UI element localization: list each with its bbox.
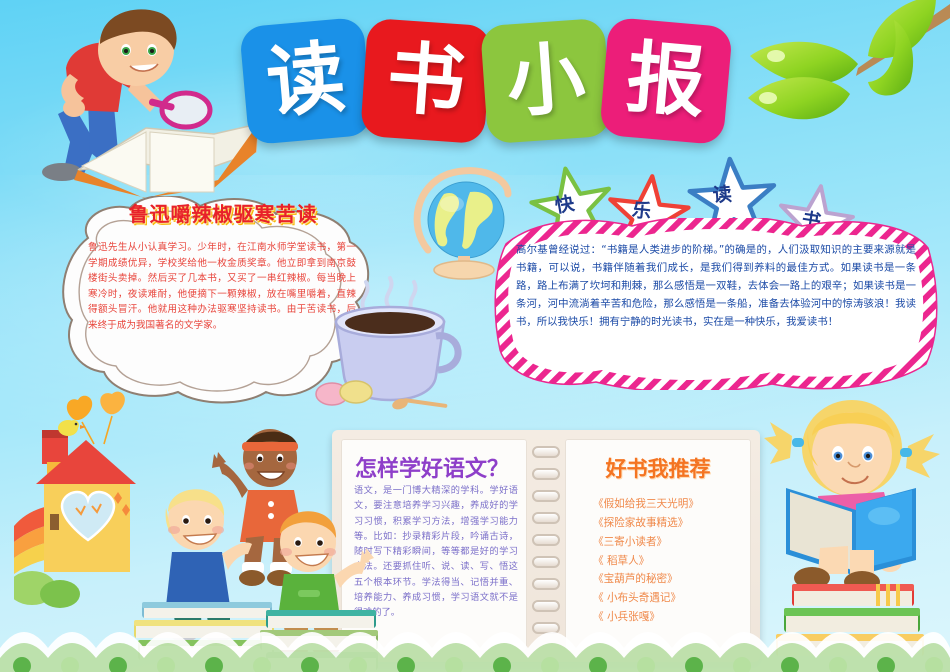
title-char-4: 报 bbox=[624, 39, 709, 124]
list-item: 《宝葫芦的秘密》 bbox=[593, 570, 699, 589]
right-article-body: 高尔基曾经说过：“书籍是人类进步的阶梯。”的确是的，人们汲取知识的主要来源就是书… bbox=[516, 242, 916, 331]
title-tile-1: 读 bbox=[239, 17, 373, 145]
title-tile-4: 报 bbox=[599, 17, 733, 145]
scallop-shape bbox=[0, 618, 950, 672]
coffee-cup-icon bbox=[310, 270, 495, 420]
notebook-left-body: 语文，是一门博大精深的学科。学好语文，要注意培养学习兴趣，养成好的学习习惯，积累… bbox=[354, 483, 518, 620]
title-char-2: 书 bbox=[384, 39, 467, 122]
title-char-1: 读 bbox=[264, 39, 349, 124]
notebook-right-title: 好书我推荐 bbox=[565, 453, 751, 483]
list-item: 《 小布头奇遇记》 bbox=[593, 589, 699, 608]
boy-with-magnifier-illustration bbox=[18, 2, 268, 202]
title-tile-3: 小 bbox=[480, 18, 612, 144]
leaves-branch-icon bbox=[740, 0, 950, 174]
book-recommendation-list: 《假如给我三天光明》 《探险家故事精选》 《三寄小读者》 《 稻草人》 《宝葫芦… bbox=[593, 495, 699, 627]
right-article-box: 高尔基曾经说过：“书籍是人类进步的阶梯。”的确是的，人们汲取知识的主要来源就是书… bbox=[492, 218, 940, 390]
poster-canvas: 读 书 小 报 快 乐 读 书 鲁迅先生从小认真学习。少年时，在江南水师学堂读书… bbox=[0, 0, 950, 672]
list-item: 《假如给我三天光明》 bbox=[593, 495, 699, 514]
title-char-3: 小 bbox=[504, 39, 587, 122]
title-tile-2: 书 bbox=[360, 18, 492, 144]
page-title: 读 书 小 报 bbox=[252, 22, 728, 140]
list-item: 《 稻草人》 bbox=[593, 552, 699, 571]
list-item: 《三寄小读者》 bbox=[593, 533, 699, 552]
green-scallop-border bbox=[0, 618, 950, 672]
left-article-title: 鲁迅嚼辣椒驱寒苦读 bbox=[58, 198, 388, 227]
list-item: 《探险家故事精选》 bbox=[593, 514, 699, 533]
notebook-left-title: 怎样学好语文？ bbox=[355, 451, 509, 483]
